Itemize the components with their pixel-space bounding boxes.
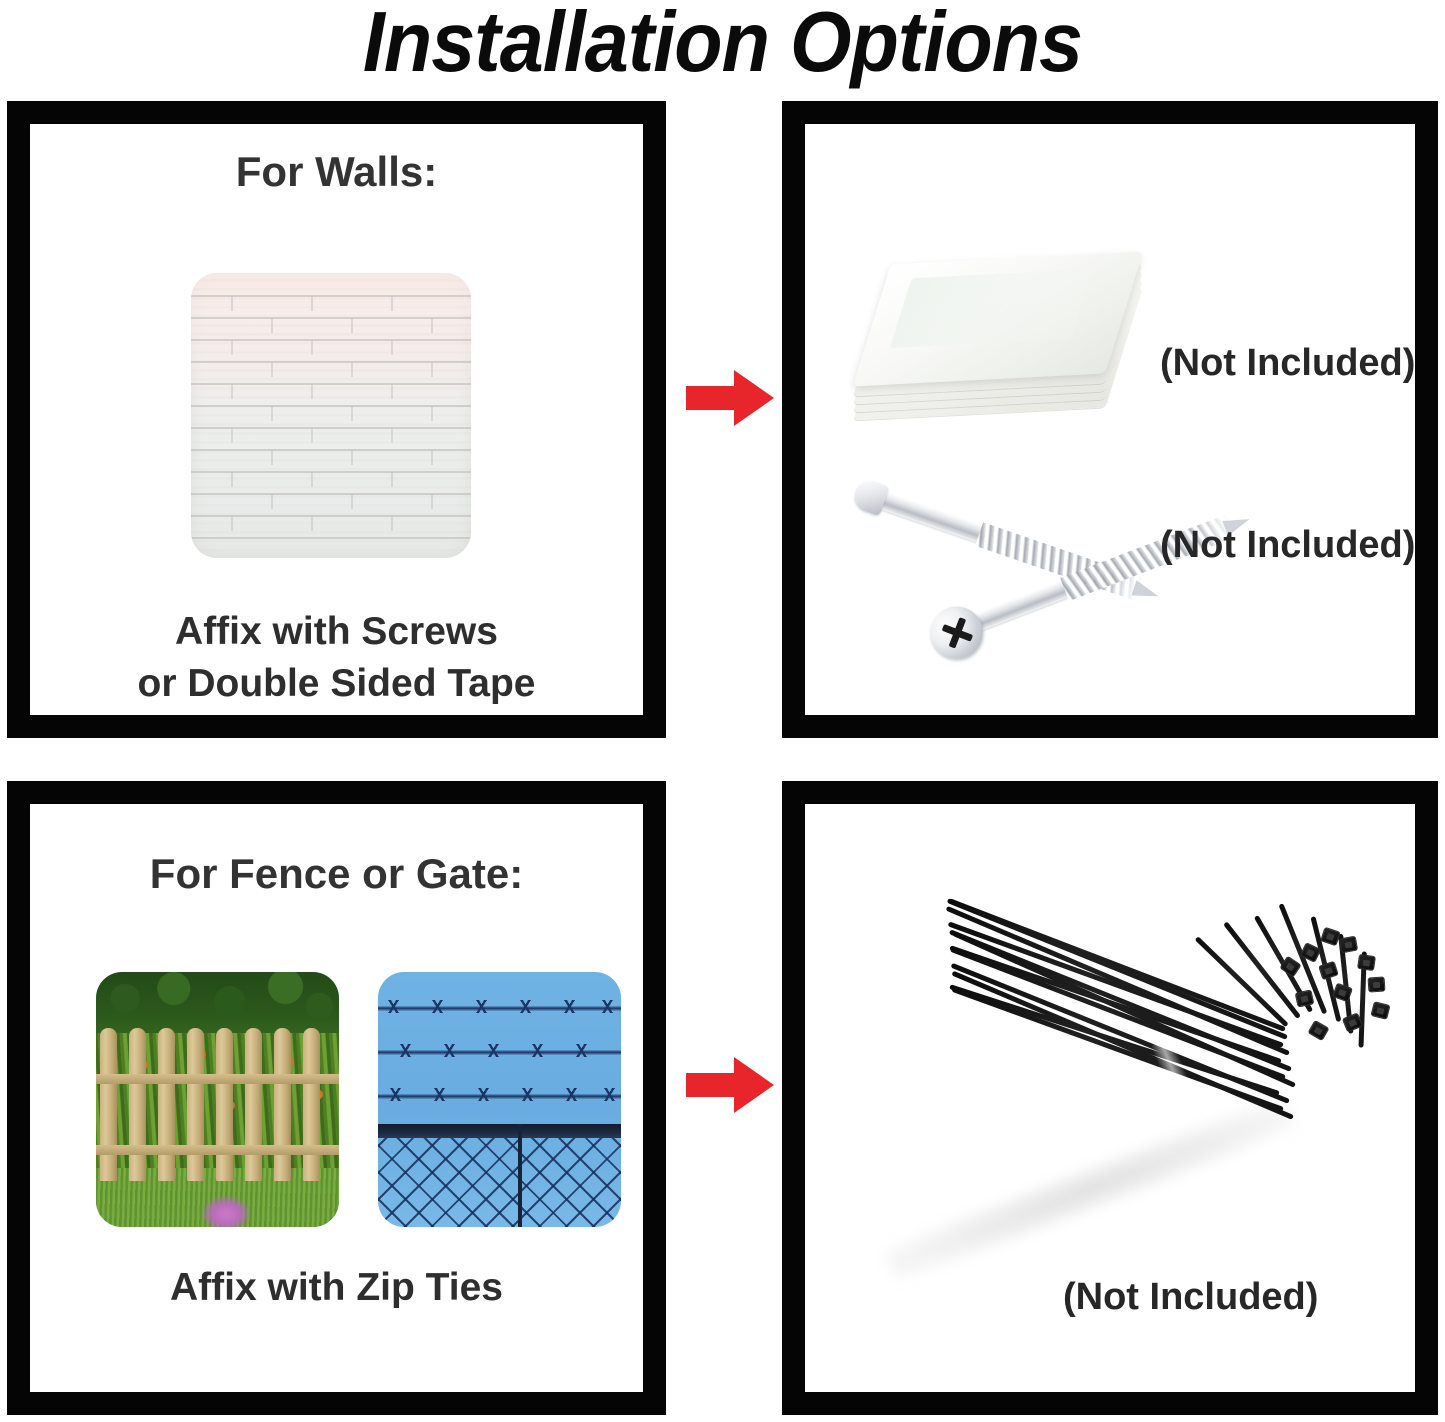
panel-zip-ties: (Not Included) bbox=[782, 781, 1438, 1415]
chain-link-barbed-wire-photo bbox=[378, 972, 621, 1227]
panel-for-walls: For Walls: bbox=[7, 101, 666, 738]
phillips-head-icon bbox=[923, 599, 990, 666]
picket-fence-photo bbox=[96, 972, 339, 1227]
red-right-arrow-icon-top bbox=[684, 368, 776, 428]
panel-for-fence-or-gate: For Fence or Gate: bbox=[7, 781, 666, 1415]
red-right-arrow-icon-bottom bbox=[684, 1055, 776, 1115]
zipties-not-included-note: (Not Included) bbox=[1063, 1276, 1318, 1319]
walls-caption-line-1: Affix with Screws bbox=[30, 610, 643, 654]
double-sided-tape-image bbox=[868, 244, 1140, 416]
tape-not-included-note: (Not Included) bbox=[1160, 342, 1415, 385]
walls-caption-line-2: or Double Sided Tape bbox=[30, 662, 643, 706]
screw-image-upper bbox=[864, 488, 1164, 608]
for-fence-or-gate-heading: For Fence or Gate: bbox=[30, 850, 643, 898]
for-walls-heading: For Walls: bbox=[30, 148, 643, 196]
zip-ties-image bbox=[835, 919, 1395, 1289]
fence-caption: Affix with Zip Ties bbox=[30, 1266, 643, 1310]
screws-not-included-note: (Not Included) bbox=[1160, 524, 1415, 567]
installation-options-infographic: Installation Options For Walls: bbox=[0, 0, 1445, 1422]
page-title: Installation Options bbox=[51, 0, 1395, 92]
panel-wall-hardware: (Not Included) (Not Included) bbox=[782, 101, 1438, 738]
brick-wall-image bbox=[191, 273, 471, 558]
